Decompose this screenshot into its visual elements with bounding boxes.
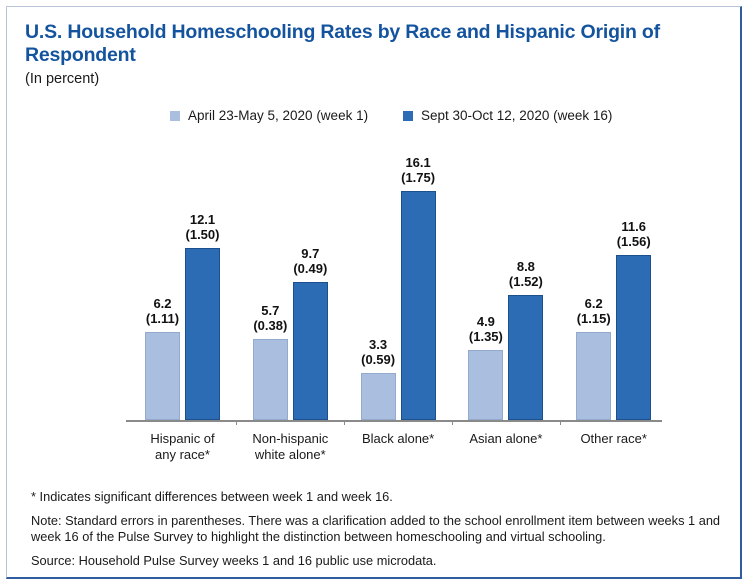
footnote-0: * Indicates significant differences betw… <box>31 489 721 506</box>
x-axis-label-1-line-1: white alone* <box>225 447 355 463</box>
bar-4-series-1[interactable] <box>616 255 651 420</box>
bar-value-0-series-1: 12.1 <box>168 212 238 227</box>
bar-value-1-series-1: 9.7 <box>275 246 345 261</box>
bar-1-series-1[interactable] <box>293 282 328 420</box>
bar-0-series-1[interactable] <box>185 248 220 420</box>
bar-value-label-2-series-1: 16.1(1.75) <box>383 155 453 185</box>
bar-value-4-series-1: 11.6 <box>599 219 669 234</box>
x-axis-baseline <box>126 420 662 422</box>
bar-4-series-0[interactable] <box>576 332 611 420</box>
bar-value-label-3-series-1: 8.8(1.52) <box>491 259 561 289</box>
x-axis-tick-4 <box>560 420 561 425</box>
bar-stderr-3-series-1: (1.52) <box>491 274 561 289</box>
bar-2-series-0[interactable] <box>361 373 396 420</box>
chart-footnotes: * Indicates significant differences betw… <box>31 489 721 576</box>
x-axis-label-4: Other race* <box>549 431 679 447</box>
bar-value-label-4-series-1: 11.6(1.56) <box>599 219 669 249</box>
bar-value-label-1-series-1: 9.7(0.49) <box>275 246 345 276</box>
bar-value-2-series-1: 16.1 <box>383 155 453 170</box>
bar-2-series-1[interactable] <box>401 191 436 420</box>
footnote-1: Note: Standard errors in parentheses. Th… <box>31 513 721 546</box>
x-axis-tick-1 <box>236 420 237 425</box>
bar-stderr-2-series-1: (1.75) <box>383 170 453 185</box>
bar-0-series-0[interactable] <box>145 332 180 420</box>
bar-stderr-4-series-1: (1.56) <box>599 234 669 249</box>
footnote-2: Source: Household Pulse Survey weeks 1 a… <box>31 553 721 570</box>
bar-value-3-series-1: 8.8 <box>491 259 561 274</box>
bar-value-label-0-series-1: 12.1(1.50) <box>168 212 238 242</box>
bar-3-series-1[interactable] <box>508 295 543 420</box>
bar-1-series-0[interactable] <box>253 339 288 420</box>
bar-3-series-0[interactable] <box>468 350 503 420</box>
chart-figure: U.S. Household Homeschooling Rates by Ra… <box>6 6 742 579</box>
bar-stderr-1-series-1: (0.49) <box>275 261 345 276</box>
bar-stderr-0-series-1: (1.50) <box>168 227 238 242</box>
x-axis-label-4-line-0: Other race* <box>549 431 679 447</box>
x-axis-tick-2 <box>344 420 345 425</box>
x-axis-tick-3 <box>452 420 453 425</box>
